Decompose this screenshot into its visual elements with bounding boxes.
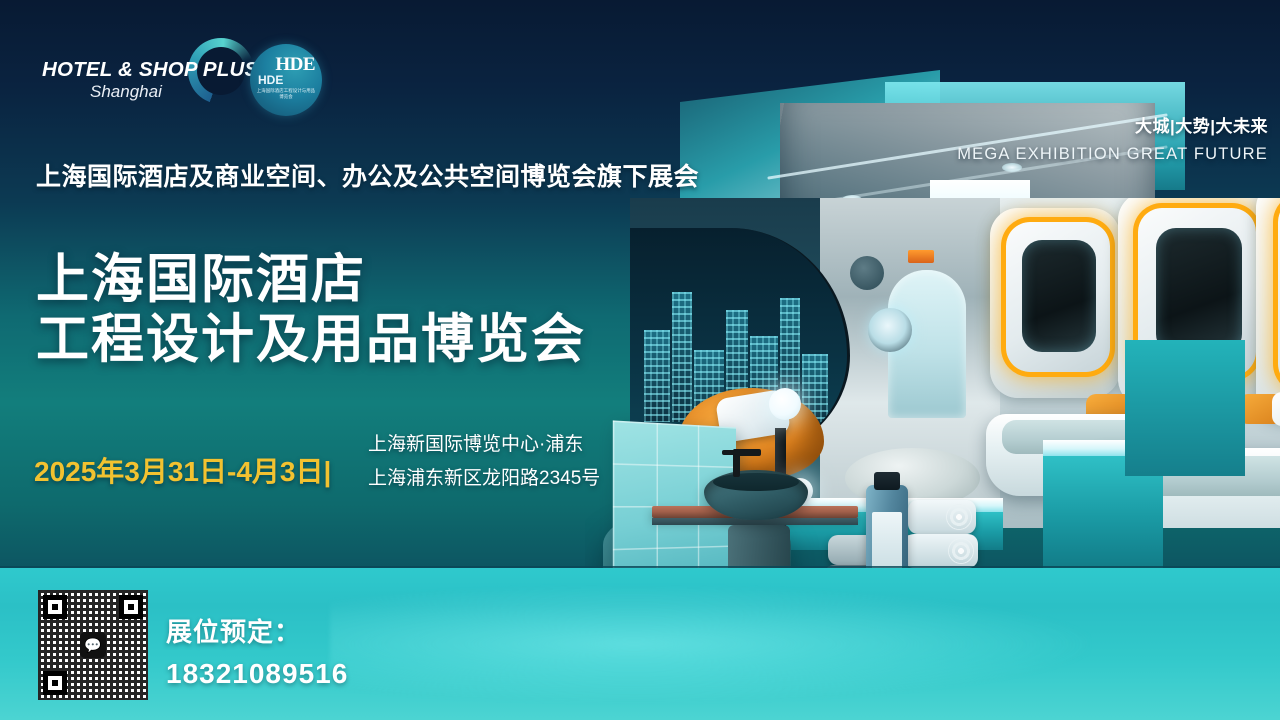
- tagline-chinese: 大城|大势|大未来: [957, 112, 1268, 137]
- basin-faucet-handle: [722, 450, 736, 455]
- event-title-line2: 工程设计及用品博览会: [36, 310, 586, 370]
- event-date: 2025年3月31日-4月3日|: [34, 450, 331, 490]
- towel-roll-white-mid: [904, 534, 978, 568]
- hotel-shop-plus-logo[interactable]: HOTEL & SHOP PLUS Shanghai: [42, 44, 242, 106]
- promo-poster: HOTEL & SHOP PLUS Shanghai HDE HDE 上海国际酒…: [0, 0, 1280, 720]
- venue-line2: 上海浦东新区龙阳路2345号: [368, 462, 600, 496]
- logo-line1: HOTEL & SHOP PLUS: [42, 58, 258, 82]
- hde-badge-chinese: 上海国际酒店工程设计与用品博览会: [256, 88, 316, 100]
- round-mirror: [868, 308, 912, 352]
- logo-line2: Shanghai: [90, 82, 162, 102]
- booth-booking-phone[interactable]: 18321089516: [166, 658, 348, 690]
- venue-line1: 上海新国际博览中心·浦东: [368, 428, 600, 462]
- wechat-icon: 💬: [80, 632, 106, 658]
- lamp-globe-upper: [769, 388, 801, 420]
- vessel-washbasin: [704, 470, 808, 520]
- exit-sign: [908, 250, 934, 263]
- wall-clock: [850, 256, 884, 290]
- event-tagline: 大城|大势|大未来 MEGA EXHIBITION GREAT FUTURE: [957, 112, 1268, 164]
- towel-roll-white-top: [908, 500, 976, 534]
- plinth-right-tall: [1125, 340, 1245, 476]
- hde-badge-abbrev: HDE: [258, 73, 283, 87]
- event-venue: 上海新国际博览中心·浦东 上海浦东新区龙阳路2345号: [368, 428, 600, 496]
- basin-faucet-arm: [733, 449, 761, 456]
- qr-finder-top-left: [43, 595, 67, 619]
- tagline-english: MEGA EXHIBITION GREAT FUTURE: [957, 145, 1268, 164]
- amenity-bottle-label: [872, 512, 902, 574]
- floor-sheen: [330, 586, 1090, 702]
- hde-badge-logo[interactable]: HDE HDE 上海国际酒店工程设计与用品博览会: [250, 44, 322, 116]
- qr-finder-bottom-left: [43, 671, 67, 695]
- event-title: 上海国际酒店 工程设计及用品博览会: [36, 250, 586, 370]
- event-subtitle: 上海国际酒店及商业空间、办公及公共空间博览会旗下展会: [36, 157, 699, 193]
- wechat-qr-code[interactable]: 💬: [38, 590, 148, 700]
- amenity-bottle-cap: [874, 472, 900, 490]
- qr-finder-top-right: [119, 595, 143, 619]
- booth-booking-label: 展位预定：: [166, 612, 301, 649]
- event-title-line1: 上海国际酒店: [36, 250, 586, 310]
